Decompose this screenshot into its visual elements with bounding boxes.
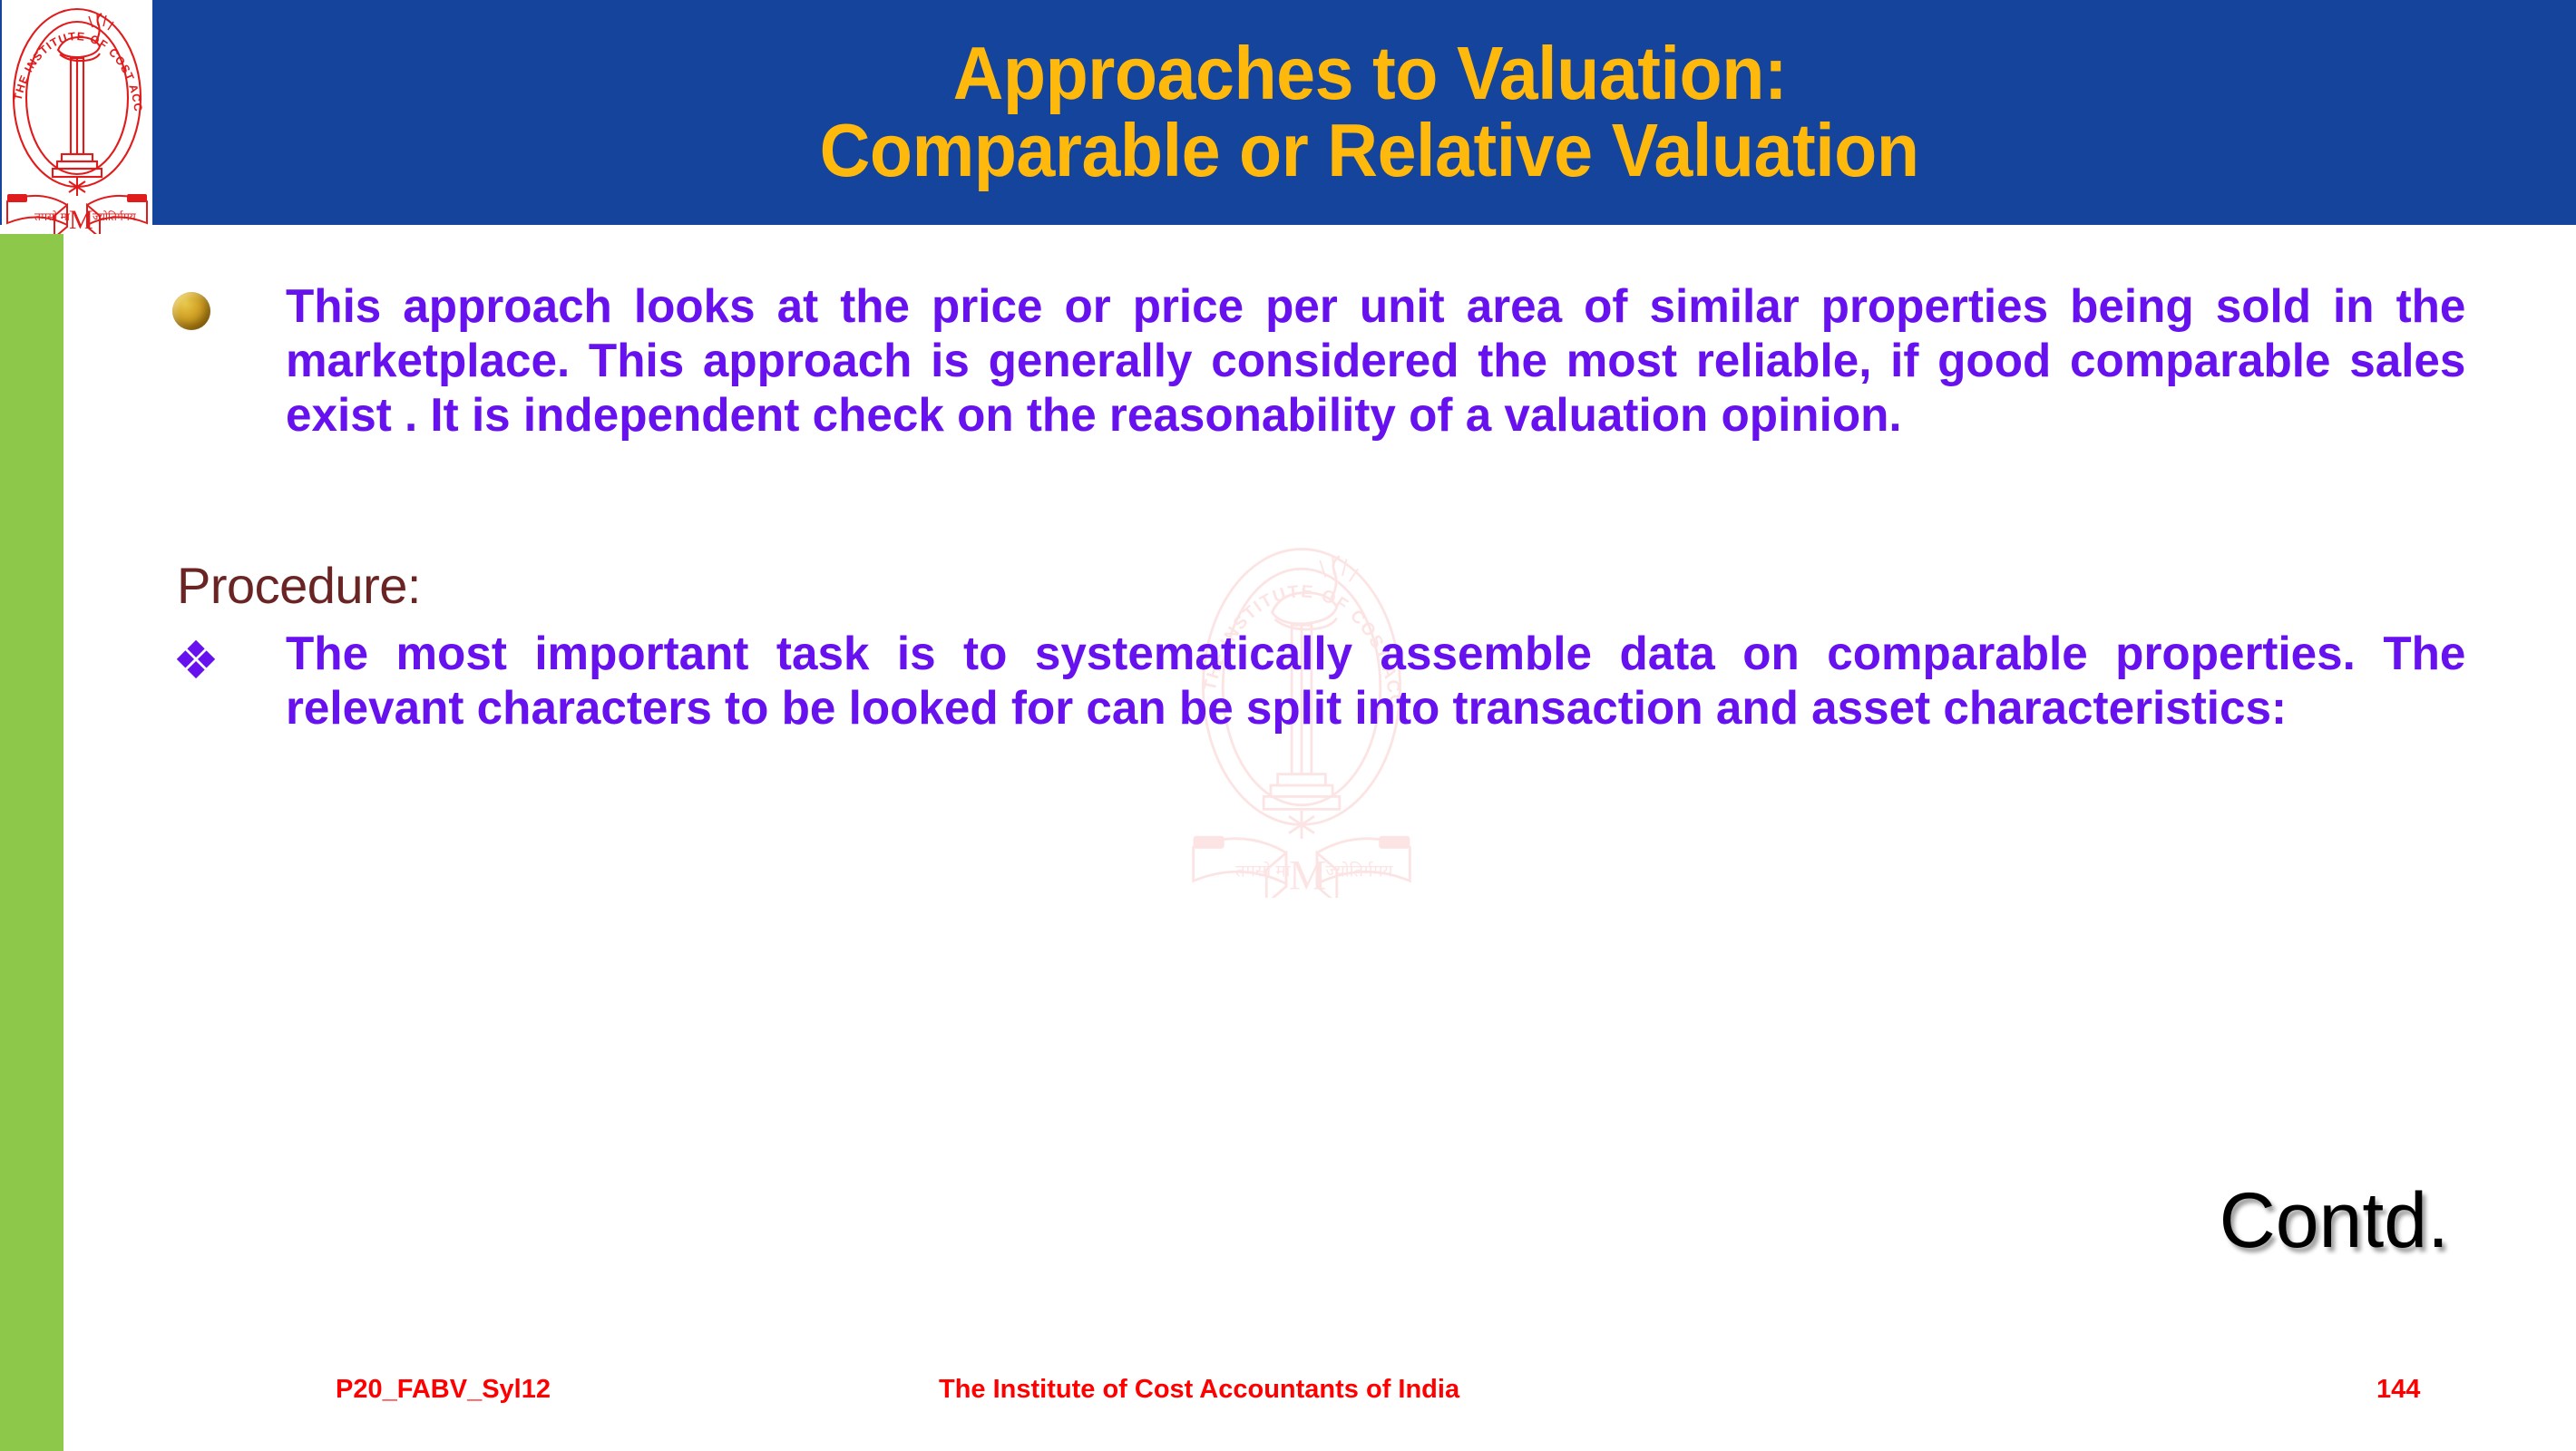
- footer-subject-code: P20_FABV_Syl12: [336, 1374, 551, 1405]
- svg-text:तमसो मा: तमसो मा: [34, 210, 71, 223]
- diamond-bullet-glyph: ❖: [172, 634, 220, 687]
- title-line-2: Comparable or Relative Valuation: [820, 112, 1919, 190]
- slide-title: Approaches to Valuation: Comparable or R…: [163, 0, 2576, 225]
- bullet-item-2: ❖ The most important task is to systemat…: [172, 627, 2513, 735]
- bullet-item-2-text: The most important task is to systematic…: [286, 627, 2465, 735]
- slide-footer: P20_FABV_Syl12 The Institute of Cost Acc…: [0, 1374, 2576, 1425]
- procedure-heading: Procedure:: [177, 560, 421, 611]
- diamond-bullet-icon: ❖: [172, 634, 254, 687]
- footer-page-number: 144: [2376, 1374, 2420, 1405]
- footer-organization: The Institute of Cost Accountants of Ind…: [939, 1374, 1459, 1405]
- svg-text:ज्योतिर्गमय: ज्योतिर्गमय: [93, 210, 137, 223]
- sphere-bullet-icon: [172, 279, 254, 335]
- bullet-item-1: This approach looks at the price or pric…: [172, 279, 2513, 443]
- svg-text:M: M: [69, 205, 93, 234]
- title-line-1: Approaches to Valuation:: [952, 35, 1787, 112]
- presentation-slide: Approaches to Valuation: Comparable or R…: [0, 0, 2576, 1451]
- slide-body: This approach looks at the price or pric…: [0, 225, 2576, 1451]
- continued-label: Contd.: [1723, 1182, 2449, 1260]
- institute-logo: THE INSTITUTE OF COST ACCOUNTANTS OF IND…: [2, 0, 152, 234]
- bullet-item-1-text: This approach looks at the price or pric…: [286, 279, 2465, 443]
